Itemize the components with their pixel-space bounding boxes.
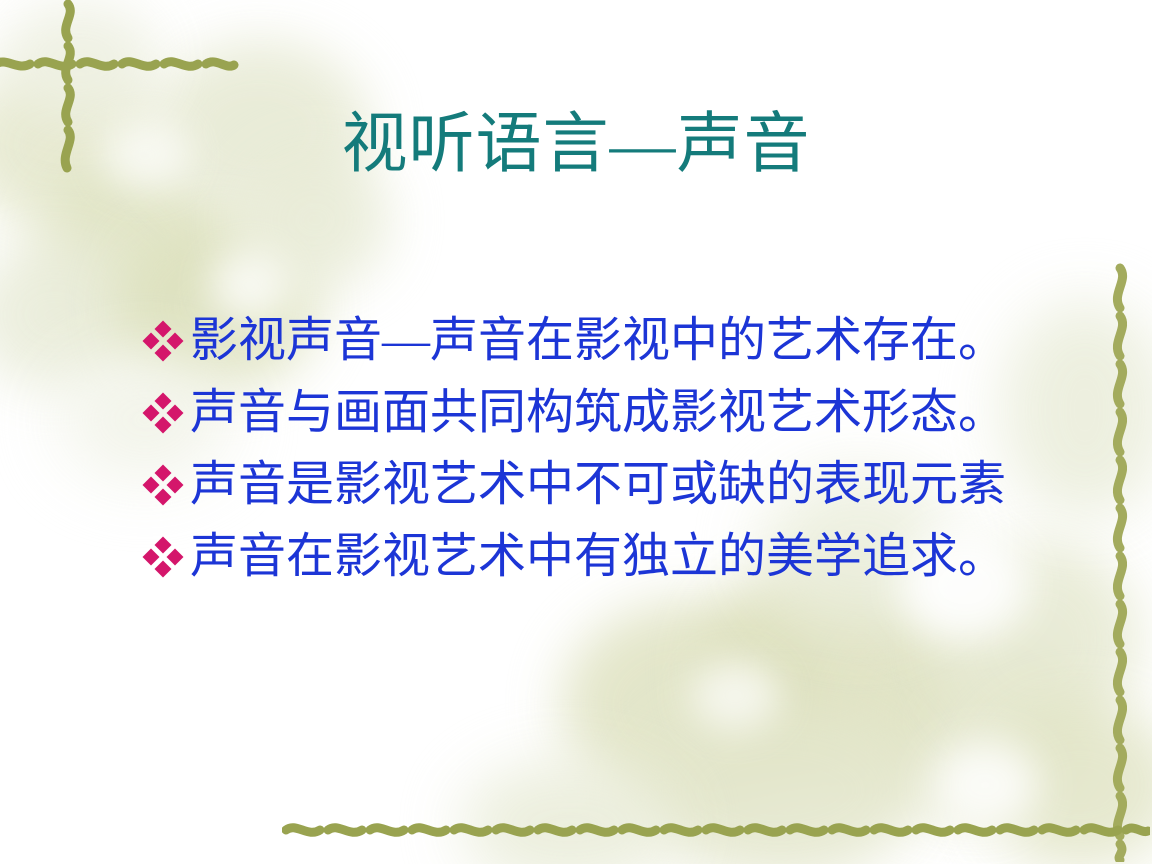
watermark-blob: [700, 560, 950, 780]
list-item: 声音与画面共同构筑成影视艺术形态。: [142, 377, 1082, 449]
watermark-blob: [560, 600, 820, 810]
watermark-blob: [640, 700, 920, 864]
list-item: 影视声音—声音在影视中的艺术存在。: [142, 305, 1082, 377]
slide-title: 视听语言—声音: [0, 112, 1152, 178]
watermark-blob: [0, 0, 160, 120]
watermark-blob: [850, 620, 1090, 820]
diamond-bullet-icon: [142, 463, 186, 507]
list-item-label: 影视声音—声音在影视中的艺术存在。: [190, 317, 1006, 365]
diamond-bullet-icon: [142, 391, 186, 435]
bottom-horizontal-bamboo-icon: [282, 806, 1150, 854]
diamond-bullet-icon: [142, 535, 186, 579]
diamond-bullet-icon: [142, 319, 186, 363]
list-item-label: 声音与画面共同构筑成影视艺术形态。: [190, 389, 1006, 437]
watermark-highlight: [690, 660, 780, 730]
list-item-label: 声音是影视艺术中不可或缺的表现元素: [190, 461, 1006, 509]
list-item-label: 声音在影视艺术中有独立的美学追求。: [190, 533, 1006, 581]
list-item: 声音在影视艺术中有独立的美学追求。: [142, 521, 1082, 593]
top-left-horizontal-bamboo-icon: [0, 40, 244, 88]
list-item: 声音是影视艺术中不可或缺的表现元素: [142, 449, 1082, 521]
slide-canvas: 视听语言—声音 影视声音—声音在影视中的艺术存在。 声音与画面共同构筑成影视艺术…: [0, 0, 1152, 864]
right-vertical-bamboo-icon: [1098, 262, 1144, 862]
bullet-list: 影视声音—声音在影视中的艺术存在。 声音与画面共同构筑成影视艺术形态。 声音是影…: [142, 305, 1082, 593]
watermark-blob: [0, 240, 140, 390]
watermark-blob: [980, 700, 1152, 864]
watermark-blob: [460, 760, 680, 864]
watermark-highlight: [930, 740, 1040, 830]
